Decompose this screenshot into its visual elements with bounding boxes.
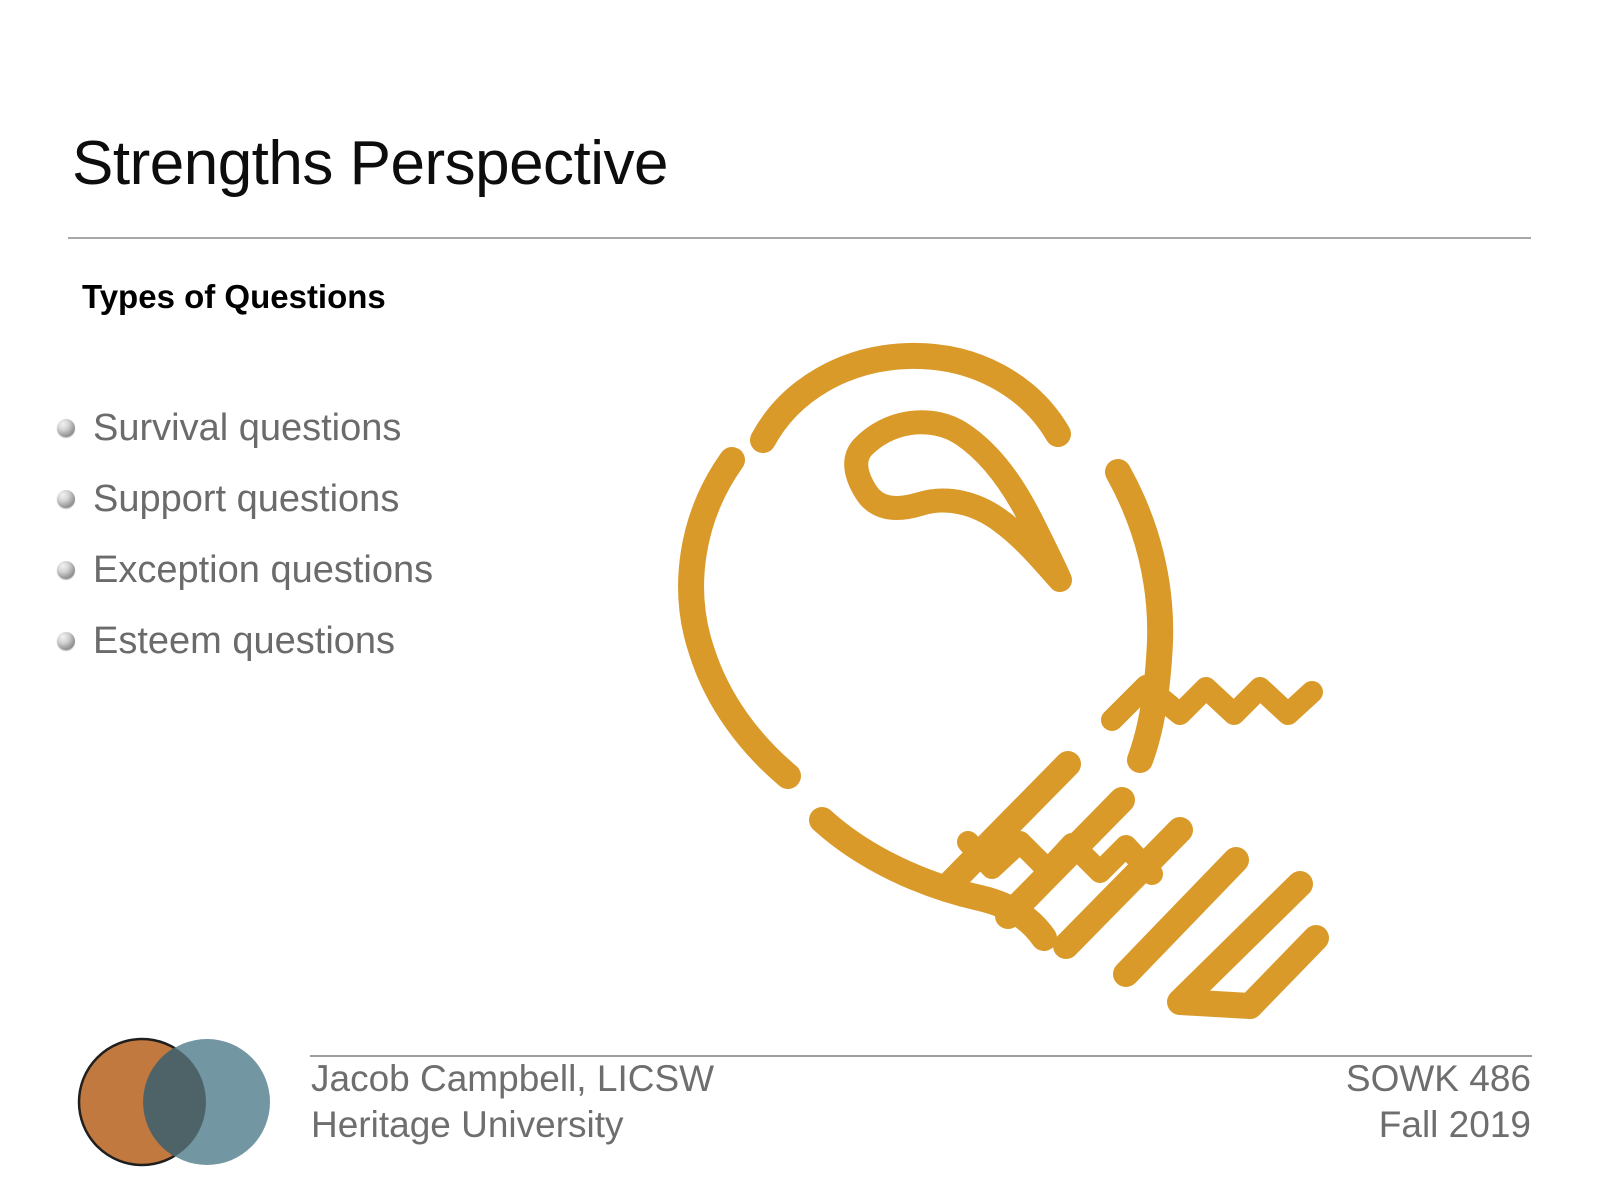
footer-course-block: SOWK 486 Fall 2019 xyxy=(1346,1056,1531,1148)
sphere-bullet-icon xyxy=(57,419,75,437)
page-title: Strengths Perspective xyxy=(72,128,668,199)
list-item-label: Survival questions xyxy=(93,409,401,447)
slide-canvas: Strengths Perspective Types of Questions… xyxy=(0,0,1600,1200)
list-item-label: Esteem questions xyxy=(93,622,395,660)
term-label: Fall 2019 xyxy=(1346,1102,1531,1148)
section-subtitle: Types of Questions xyxy=(82,278,386,316)
course-code: SOWK 486 xyxy=(1346,1056,1531,1102)
list-item: Survival questions xyxy=(57,392,617,463)
institution-name: Heritage University xyxy=(311,1102,714,1148)
list-item: Esteem questions xyxy=(57,605,617,676)
sphere-bullet-icon xyxy=(57,632,75,650)
heritage-university-logo xyxy=(70,1027,285,1177)
footer-presenter-block: Jacob Campbell, LICSW Heritage Universit… xyxy=(311,1056,714,1148)
lightbulb-icon xyxy=(640,330,1360,1030)
list-item-label: Exception questions xyxy=(93,551,433,589)
title-divider xyxy=(68,237,1531,239)
presenter-name: Jacob Campbell, LICSW xyxy=(311,1056,714,1102)
list-item: Exception questions xyxy=(57,534,617,605)
bullet-list: Survival questions Support questions Exc… xyxy=(57,392,617,676)
sphere-bullet-icon xyxy=(57,490,75,508)
sphere-bullet-icon xyxy=(57,561,75,579)
list-item: Support questions xyxy=(57,463,617,534)
list-item-label: Support questions xyxy=(93,480,399,518)
